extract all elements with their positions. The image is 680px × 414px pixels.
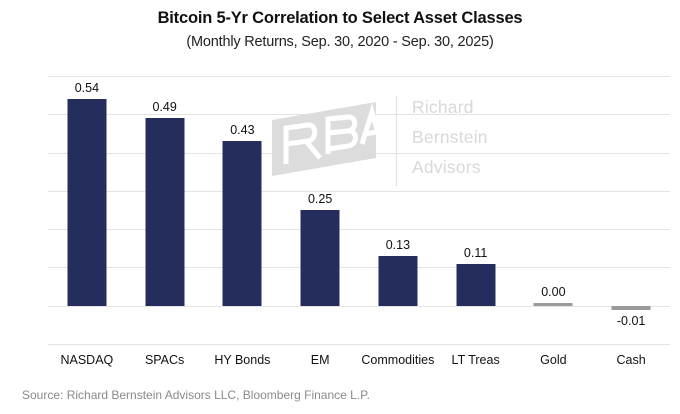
- bar[interactable]: [223, 141, 262, 306]
- chart-card: Bitcoin 5-Yr Correlation to Select Asset…: [0, 0, 680, 414]
- bar[interactable]: [612, 306, 651, 310]
- bar-group[interactable]: 0.43HY Bonds: [204, 76, 282, 344]
- bar-value-label: 0.13: [386, 239, 410, 252]
- bar[interactable]: [145, 118, 184, 306]
- bar-value-label: -0.01: [617, 315, 646, 328]
- x-axis-tick-label: LT Treas: [452, 354, 500, 367]
- bar-series: 0.54NASDAQ0.49SPACs0.43HY Bonds0.25EM0.1…: [48, 76, 670, 344]
- bar[interactable]: [534, 303, 573, 306]
- bar[interactable]: [67, 99, 106, 306]
- source-note: Source: Richard Bernstein Advisors LLC, …: [22, 388, 370, 402]
- bar-group[interactable]: 0.13Commodities: [359, 76, 437, 344]
- bar[interactable]: [301, 210, 340, 306]
- bar-group[interactable]: 0.54NASDAQ: [48, 76, 126, 344]
- bar-group[interactable]: 0.25EM: [281, 76, 359, 344]
- bar-value-label: 0.54: [75, 82, 99, 95]
- x-axis-tick-label: EM: [311, 354, 330, 367]
- plot-area: 0.600.500.400.300.200.100.00-0.10 0.54NA…: [48, 76, 670, 344]
- bar[interactable]: [456, 264, 495, 306]
- x-axis-tick-label: NASDAQ: [60, 354, 113, 367]
- x-axis-tick-label: HY Bonds: [214, 354, 270, 367]
- bar-group[interactable]: 0.11LT Treas: [437, 76, 515, 344]
- bar-value-label: 0.11: [464, 247, 487, 260]
- bar-value-label: 0.25: [308, 193, 332, 206]
- bar-value-label: 0.00: [541, 286, 565, 299]
- x-axis-tick-label: Gold: [540, 354, 566, 367]
- x-axis-tick-label: Cash: [617, 354, 646, 367]
- bar-group[interactable]: -0.01Cash: [592, 76, 670, 344]
- bar-group[interactable]: 0.00Gold: [515, 76, 593, 344]
- x-axis-tick-label: Commodities: [361, 354, 434, 367]
- bar-value-label: 0.43: [230, 124, 254, 137]
- chart-title: Bitcoin 5-Yr Correlation to Select Asset…: [0, 8, 680, 28]
- gridline: [48, 344, 670, 345]
- chart-subtitle: (Monthly Returns, Sep. 30, 2020 - Sep. 3…: [0, 32, 680, 52]
- bar[interactable]: [378, 256, 417, 306]
- title-block: Bitcoin 5-Yr Correlation to Select Asset…: [0, 8, 680, 52]
- bar-value-label: 0.49: [152, 101, 176, 114]
- bar-group[interactable]: 0.49SPACs: [126, 76, 204, 344]
- x-axis-tick-label: SPACs: [145, 354, 184, 367]
